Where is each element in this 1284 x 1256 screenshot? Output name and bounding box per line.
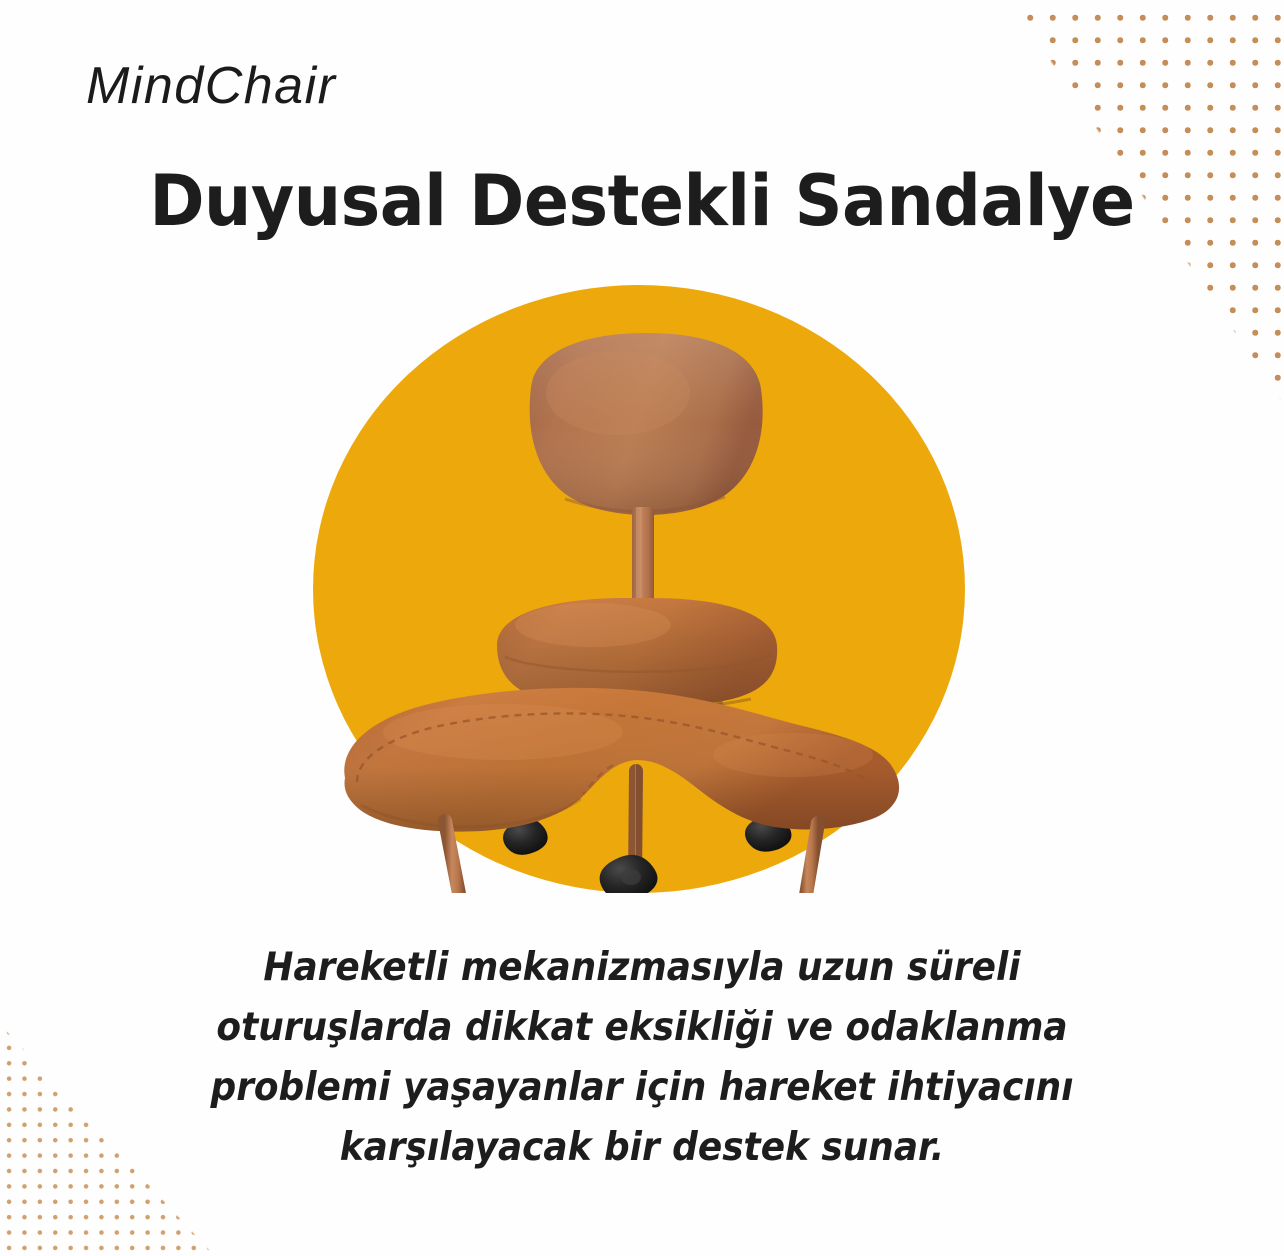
page-title: Duyusal Destekli Sandalye xyxy=(32,160,1252,242)
product-description: Hareketli mekanizmasıyla uzun süreli otu… xyxy=(189,938,1094,1178)
caster-wheel-center xyxy=(600,855,658,893)
description-line-2: oturuşlarda dikkat eksikliği ve odaklanm… xyxy=(189,998,1094,1058)
description-line-1: Hareketli mekanizmasıyla uzun süreli xyxy=(189,938,1094,998)
brand-logo: MindChair xyxy=(86,56,336,116)
description-line-3: problemi yaşayanlar için hareket ihtiyac… xyxy=(189,1058,1094,1118)
poster-canvas: MindChair Duyusal Destekli Sandalye xyxy=(0,0,1284,1256)
product-hero xyxy=(313,285,965,893)
description-line-4: karşılayacak bir destek sunar. xyxy=(189,1118,1094,1178)
backrest-cushion xyxy=(530,333,763,515)
back-post xyxy=(632,507,654,611)
seat-cushion xyxy=(344,688,899,832)
chair-illustration xyxy=(313,285,965,893)
